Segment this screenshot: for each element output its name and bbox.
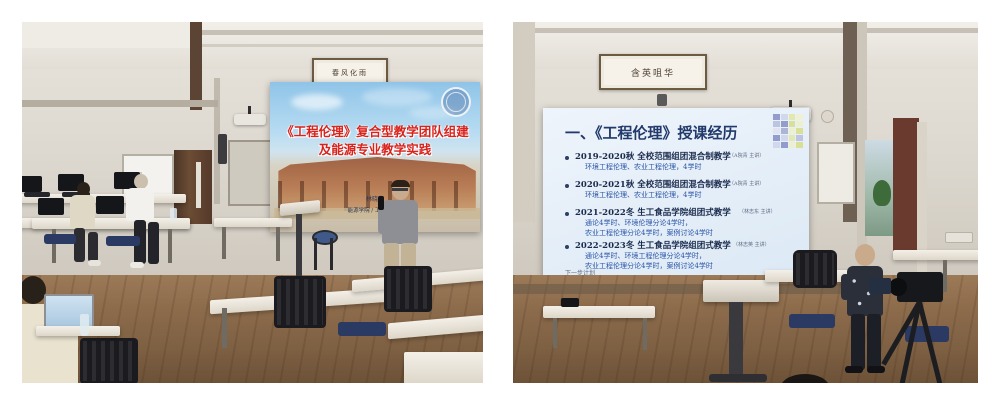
video-camera-lens-icon [889, 278, 907, 296]
plant-icon [873, 180, 891, 206]
slide-right: 一、《工程伦理》授课经历 2019-2020秋 全校范围组团混合制教学 （A院青… [543, 108, 809, 284]
monitor [561, 298, 579, 307]
person-presenter-right-leg [867, 314, 881, 370]
university-logo-icon [773, 114, 803, 148]
ceiling-column [190, 22, 202, 110]
speaker-left [218, 134, 227, 164]
bullet-3-main: 2021-2022冬 生工食品学院组团式教学 [575, 206, 731, 218]
keyboard [24, 192, 50, 197]
person-presenter-right-leg [851, 314, 865, 370]
lectern-right-post [729, 302, 743, 378]
person-audience-2-shoe [130, 262, 144, 268]
stool-leg [314, 238, 317, 270]
desk-leg [222, 308, 227, 348]
slide-right-title: 一、《工程伦理》授课经历 [565, 122, 738, 143]
screenshot-root: 春风化雨 《工程伦理》复合型教学团队组建 及能源专业教学实践 [0, 0, 1000, 400]
wall-trim [22, 100, 218, 107]
desk-leg [168, 229, 172, 263]
lectern-right-top [703, 280, 779, 302]
person-audience-1-body [70, 195, 95, 229]
ceiling-beam [513, 28, 978, 33]
person-audience-1-leg [74, 228, 85, 262]
person-audience-1-shoe [88, 260, 101, 266]
chair-back [80, 338, 138, 383]
bullet-2-sub: 环境工程伦理、农业工程伦理，4学时 [585, 190, 701, 200]
stool-leg [330, 238, 333, 270]
bullet-1-note: （A院青 主讲） [729, 152, 764, 159]
door-glass [196, 162, 201, 208]
photo-right-classroom: 含英咀华 一、《工程伦理》授课经历 2019-2020秋 全校范围组团混合 [513, 22, 978, 383]
chair-seat [338, 322, 386, 336]
door-right [893, 118, 919, 258]
monitor [22, 176, 42, 192]
person-audience-2-leg [148, 222, 159, 264]
bullet-4-sub: 通论4学时、环境工程伦理分论4学时， [585, 251, 706, 261]
ceiling-sensor-icon [821, 110, 834, 123]
chair-back [384, 266, 432, 312]
bullet-dot [565, 184, 569, 188]
slide-title-line1: 《工程伦理》复合型教学团队组建 [270, 124, 480, 139]
person-presenter-right-arm [841, 274, 850, 300]
desk-front-row [32, 218, 190, 229]
wall-left-edge [513, 22, 535, 222]
lectern-right-base [709, 374, 767, 382]
bullet-4-main: 2022-2023冬 生工食品学院组团式教学 [575, 239, 731, 251]
desk-leg [222, 227, 226, 259]
plaque-text: 春风化雨 [332, 68, 368, 78]
ceiling-soffit [22, 22, 192, 48]
presenter-hair [391, 180, 410, 187]
chair-back [793, 250, 837, 288]
person-audience-2-head [134, 174, 148, 189]
bullet-dot [565, 212, 569, 216]
desk-right-back [893, 250, 978, 260]
bullet-2-main: 2020-2021秋 全校范围组团混合制教学 [575, 178, 731, 190]
door-left [174, 150, 212, 224]
desk-leg [276, 227, 280, 261]
photo-left-classroom: 春风化雨 《工程伦理》复合型教学团队组建 及能源专业教学实践 [22, 22, 483, 383]
presenter-glasses-icon [392, 188, 408, 191]
person-audience-2-body [126, 188, 154, 221]
bullet-4-note: （林志英 主讲） [733, 241, 770, 248]
desk-leg [943, 260, 947, 292]
foreground-desk-right [404, 352, 483, 383]
chair-seat [44, 234, 76, 244]
bullet-1-main: 2019-2020秋 全校范围组团混合制教学 [575, 150, 731, 162]
ceiling-speaker [657, 94, 667, 106]
ceiling-projector-icon [234, 114, 266, 125]
person-audience-1-leg [88, 232, 98, 262]
bullet-2-note: （A院青 主讲） [729, 180, 764, 187]
bullet-3-sub2: 农业工程伦理分论4学时，案例讨论4学时 [585, 228, 713, 238]
water-bottle [80, 314, 89, 336]
camera-monitor [869, 278, 891, 294]
bullet-1-sub: 环境工程伦理、农业工程伦理，4学时 [585, 162, 701, 172]
bullet-3-sub: 通论4学时、环境伦理分论4学时， [585, 218, 692, 228]
person-audience-1-head [77, 182, 90, 196]
university-crest-icon [441, 87, 471, 117]
lectern-post [296, 214, 302, 280]
plaque-inner: 春风化雨 [317, 63, 383, 83]
person-presenter-body [382, 200, 418, 244]
side-desk [214, 218, 292, 227]
monitor [38, 198, 64, 215]
plaque-text: 含英咀华 [631, 66, 675, 79]
person-presenter-right-head [855, 244, 875, 266]
water-bottle [170, 208, 177, 221]
desk-leg [643, 318, 647, 350]
person-presenter-right-shoe [845, 366, 863, 373]
chair-back [274, 276, 326, 328]
slide-title-line2: 及能源专业教学实践 [270, 142, 480, 157]
bullet-dot [565, 156, 569, 160]
microphone-icon [378, 196, 384, 210]
person-presenter-right-shoe [867, 366, 885, 373]
desk-leg [553, 318, 557, 348]
chair-seat [789, 314, 835, 328]
plaque-inner: 含英咀华 [604, 59, 702, 85]
wall-outlet-icon [945, 232, 973, 243]
projection-screen-right: 一、《工程伦理》授课经历 2019-2020秋 全校范围组团混合制教学 （A院青… [543, 108, 809, 284]
bullet-3-note: （林志东 主讲） [739, 208, 776, 215]
foreground-desk [36, 326, 120, 336]
chair-seat [106, 236, 140, 246]
wall-plaque-right: 含英咀华 [599, 54, 707, 90]
monitor [96, 196, 124, 214]
bullet-4-sub2: 农业工程伦理分论4学时，案例讨论4学时 [585, 261, 713, 271]
bullet-dot [565, 245, 569, 249]
desk-right-front [543, 306, 655, 318]
whiteboard-right [817, 142, 855, 204]
